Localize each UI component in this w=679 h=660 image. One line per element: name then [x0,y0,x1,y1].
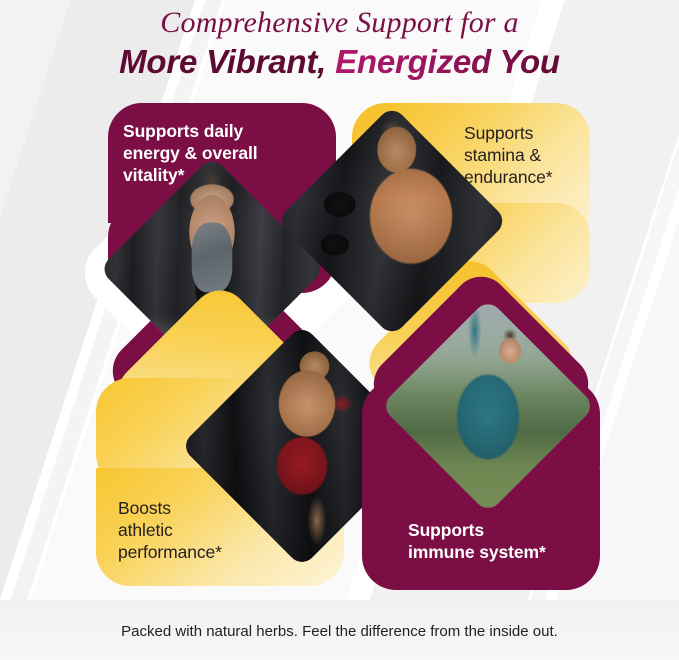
headline-segment-energized-you: Energized You [335,43,560,80]
headline-segment-more-vibrant: More Vibrant, [119,43,335,80]
card-label-stamina: Supports stamina & endurance* [464,122,624,188]
headline-line-1: Comprehensive Support for a [0,0,679,40]
card-label-daily-energy: Supports daily energy & overall vitality… [123,120,323,186]
card-label-athletic-performance: Boosts athletic performance* [118,497,318,563]
headline: Comprehensive Support for a More Vibrant… [0,0,679,82]
headline-line-2: More Vibrant, Energized You [0,42,679,82]
footer-tagline: Packed with natural herbs. Feel the diff… [0,623,679,640]
card-label-immune-system: Supports immune system* [408,519,638,563]
benefit-cards: Supports daily energy & overall vitality… [0,0,679,660]
infographic-root: Comprehensive Support for a More Vibrant… [0,0,679,660]
